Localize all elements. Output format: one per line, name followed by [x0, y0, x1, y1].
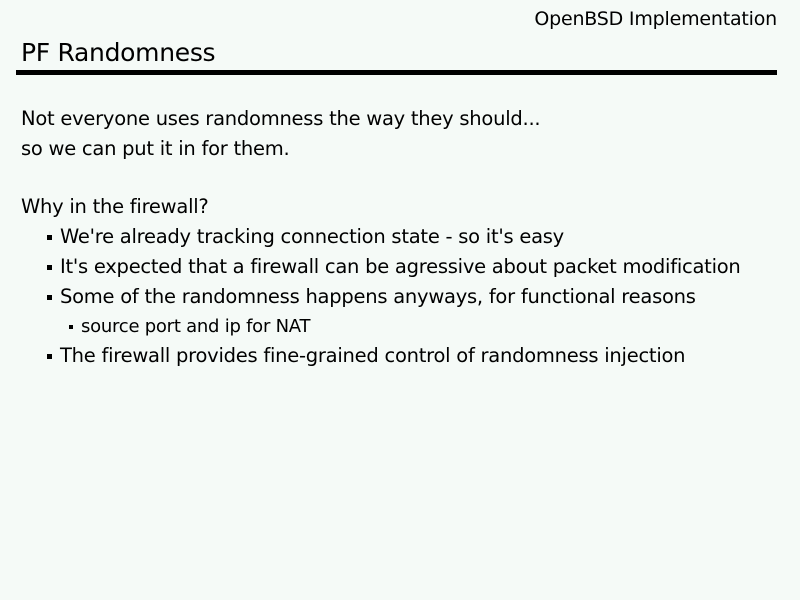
body-spacer	[0, 164, 800, 192]
square-bullet-icon	[47, 265, 52, 270]
slide: OpenBSD Implementation PF Randomness Not…	[0, 0, 800, 600]
list-item-label: It's expected that a firewall can be agr…	[60, 255, 741, 278]
intro-line-1: Not everyone uses randomness the way the…	[0, 104, 800, 134]
square-bullet-icon	[69, 325, 73, 329]
list-item: We're already tracking connection state …	[0, 222, 800, 252]
list-item: Some of the randomness happens anyways, …	[0, 282, 800, 312]
square-bullet-icon	[47, 235, 52, 240]
title-divider	[16, 70, 777, 75]
square-bullet-icon	[47, 354, 52, 359]
slide-title: PF Randomness	[21, 38, 215, 67]
list-item-sub: source port and ip for NAT	[0, 312, 800, 341]
slide-header-label: OpenBSD Implementation	[534, 8, 777, 30]
list-item-label: Some of the randomness happens anyways, …	[60, 285, 696, 308]
list-item-label: We're already tracking connection state …	[60, 225, 564, 248]
list-item: It's expected that a firewall can be agr…	[0, 252, 800, 282]
bullet-list: We're already tracking connection state …	[0, 222, 800, 371]
intro-line-2: so we can put it in for them.	[0, 134, 800, 164]
list-item: The firewall provides fine-grained contr…	[0, 341, 800, 371]
square-bullet-icon	[47, 295, 52, 300]
list-item-label: The firewall provides fine-grained contr…	[60, 344, 685, 367]
slide-body: Not everyone uses randomness the way the…	[0, 104, 800, 371]
list-item-label: source port and ip for NAT	[81, 316, 310, 337]
section-heading: Why in the firewall?	[0, 192, 800, 222]
